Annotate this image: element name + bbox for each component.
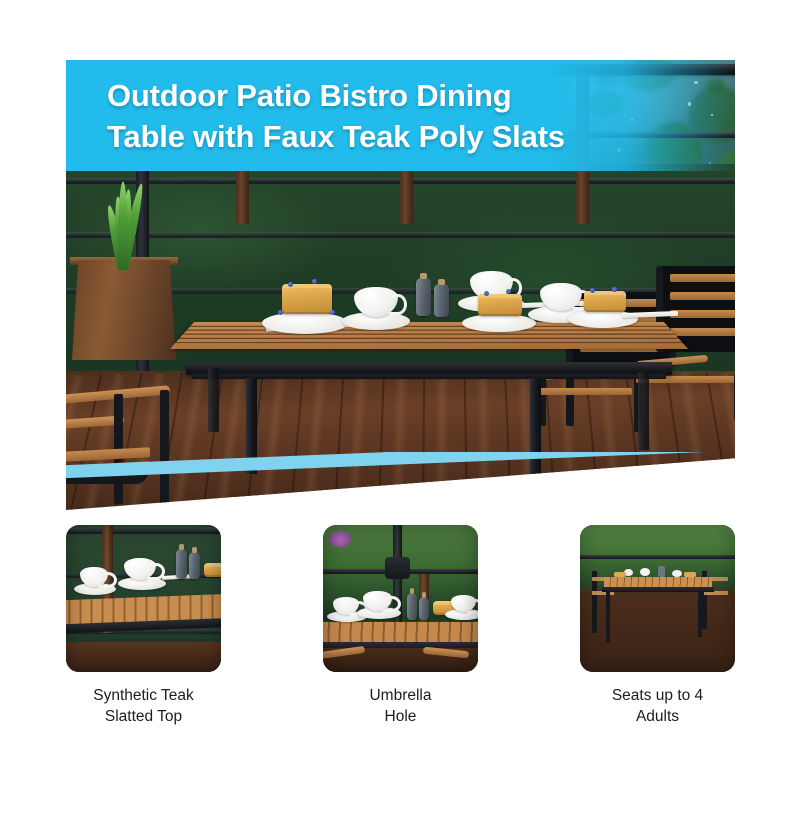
blueberry-6 [506,289,511,294]
blueberry-7 [590,288,595,293]
caption-line-1: Synthetic Teak [66,685,221,706]
title-banner: Outdoor Patio Bistro Dining Table with F… [66,60,735,171]
caption-line-2: Adults [580,706,735,727]
diagonal-accent-stripe [66,452,735,479]
caption-line-2: Hole [323,706,478,727]
blueberry-4 [330,310,335,315]
feature-card-synthetic-teak[interactable]: Synthetic Teak Slatted Top [66,525,221,728]
blueberry-2 [312,279,317,284]
wood-planter-box [72,260,176,360]
title-line-2: Table with Faux Teak Poly Slats [107,117,707,158]
salt-shaker [434,284,449,317]
feature-card-umbrella-hole[interactable]: Umbrella Hole [323,525,478,728]
caption-line-1: Seats up to 4 [580,685,735,706]
feature-thumbnail-seats-four[interactable] [580,525,735,672]
waffle-stack-1 [282,284,332,314]
blueberry-3 [278,310,283,315]
coffee-cup-3 [540,283,582,311]
table-leg-back-right [638,372,649,450]
feature-thumbnail-synthetic-teak[interactable] [66,525,221,672]
product-feature-page: Outdoor Patio Bistro Dining Table with F… [0,0,800,814]
blueberry-1 [288,282,293,287]
feature-thumbnail-umbrella-hole[interactable] [323,525,478,672]
feature-card-seats-four[interactable]: Seats up to 4 Adults [580,525,735,728]
page-title: Outdoor Patio Bistro Dining Table with F… [107,76,707,158]
caption-line-1: Umbrella [323,685,478,706]
feature-caption-umbrella-hole: Umbrella Hole [323,685,478,728]
feature-caption-synthetic-teak: Synthetic Teak Slatted Top [66,685,221,728]
blueberry-5 [484,291,489,296]
pepper-shaker [416,278,431,316]
hero-banner-section: Outdoor Patio Bistro Dining Table with F… [66,60,735,510]
table-leg-back-left [208,368,219,432]
table-apron [192,374,666,379]
caption-line-2: Slatted Top [66,706,221,727]
waffle-stack-3 [584,291,626,312]
blueberry-8 [612,287,617,292]
feature-cards-row: Synthetic Teak Slatted Top [66,525,735,728]
coffee-cup-1 [354,287,398,317]
title-line-1: Outdoor Patio Bistro Dining [107,76,707,117]
waffle-plate-1 [262,312,348,334]
waffle-stack-2 [478,294,522,316]
diagonal-accent-stripe-area [66,452,735,514]
feature-caption-seats-four: Seats up to 4 Adults [580,685,735,728]
